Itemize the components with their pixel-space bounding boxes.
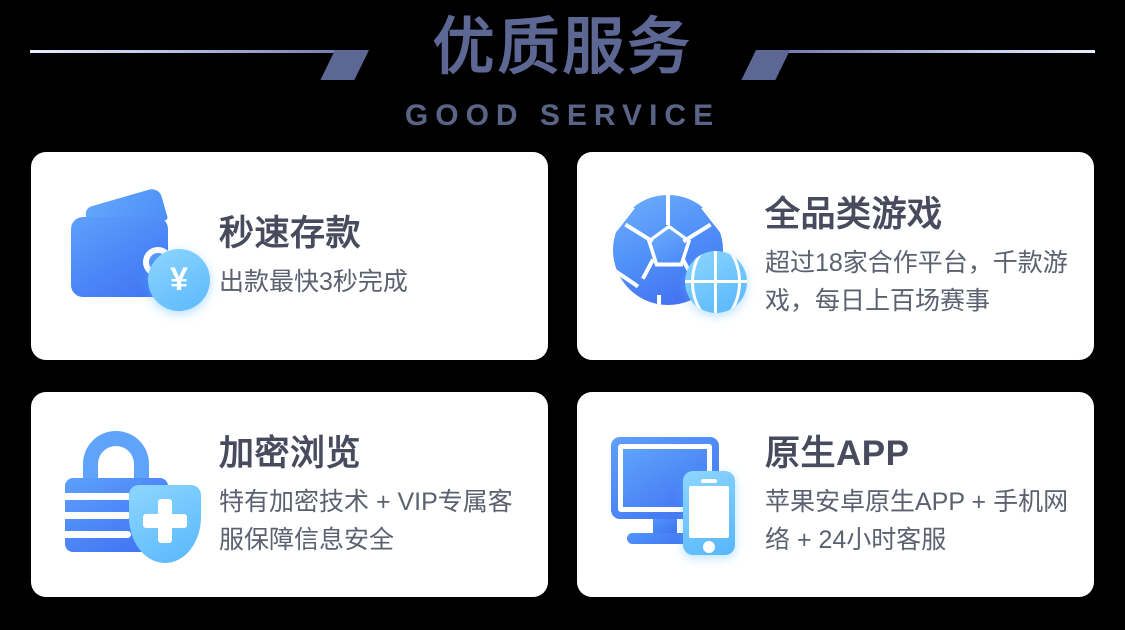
soccer-seam-bottom	[657, 295, 661, 305]
card-description: 出款最快3秒完成	[219, 263, 534, 301]
card-title: 秒速存款	[219, 211, 534, 257]
soccer-seam-top	[666, 195, 670, 225]
promo-banner: 优质服务 GOOD SERVICE ¥ 秒速存款 出款最快3秒完成	[0, 0, 1125, 630]
feature-card-grid: ¥ 秒速存款 出款最快3秒完成	[31, 152, 1094, 597]
smartphone-icon	[683, 471, 735, 555]
phone-home-button	[703, 541, 715, 553]
phone-speaker	[701, 479, 717, 483]
cross-icon-horizontal	[143, 514, 187, 528]
soccer-center-pentagon	[651, 229, 687, 263]
card-title: 原生APP	[765, 431, 1080, 477]
card-text: 秒速存款 出款最快3秒完成	[211, 211, 548, 301]
soccer-seam-lower-left	[641, 258, 655, 279]
feature-card-encryption[interactable]: 加密浏览 特有加密技术 + VIP专属客服保障信息安全	[31, 392, 548, 597]
soccer-seam-bottom-left	[613, 265, 639, 287]
card-title: 全品类游戏	[765, 192, 1080, 238]
lock-slot	[65, 531, 131, 538]
card-description: 超过18家合作平台，千款游戏，每日上百场赛事	[765, 244, 1080, 320]
card-description: 苹果安卓原生APP + 手机网络 + 24小时客服	[765, 483, 1080, 559]
feature-card-deposit[interactable]: ¥ 秒速存款 出款最快3秒完成	[31, 152, 548, 360]
card-text: 全品类游戏 超过18家合作平台，千款游戏，每日上百场赛事	[757, 192, 1094, 320]
soccer-seam-upper-left	[624, 222, 653, 242]
card-title: 加密浏览	[219, 431, 534, 477]
card-text: 加密浏览 特有加密技术 + VIP专属客服保障信息安全	[211, 431, 548, 559]
lock-shield-icon	[61, 427, 211, 562]
header-title-wrap: 优质服务	[0, 8, 1125, 88]
lock-slot	[65, 493, 131, 500]
header: 优质服务 GOOD SERVICE	[0, 0, 1125, 140]
basketball-icon	[685, 251, 747, 313]
soccer-seam-upper-right	[682, 222, 711, 242]
wallet-icon: ¥	[61, 189, 211, 324]
page-subtitle: GOOD SERVICE	[0, 98, 1125, 134]
sports-balls-icon	[607, 189, 757, 324]
card-text: 原生APP 苹果安卓原生APP + 手机网络 + 24小时客服	[757, 431, 1094, 559]
page-title: 优质服务	[0, 8, 1125, 88]
feature-card-games[interactable]: 全品类游戏 超过18家合作平台，千款游戏，每日上百场赛事	[577, 152, 1094, 360]
feature-card-native-app[interactable]: 原生APP 苹果安卓原生APP + 手机网络 + 24小时客服	[577, 392, 1094, 597]
devices-icon	[607, 427, 757, 562]
card-description: 特有加密技术 + VIP专属客服保障信息安全	[219, 483, 534, 559]
phone-screen	[689, 486, 729, 538]
lock-slot	[65, 512, 131, 519]
basketball-arc	[691, 251, 741, 313]
yen-coin-icon: ¥	[148, 249, 210, 311]
